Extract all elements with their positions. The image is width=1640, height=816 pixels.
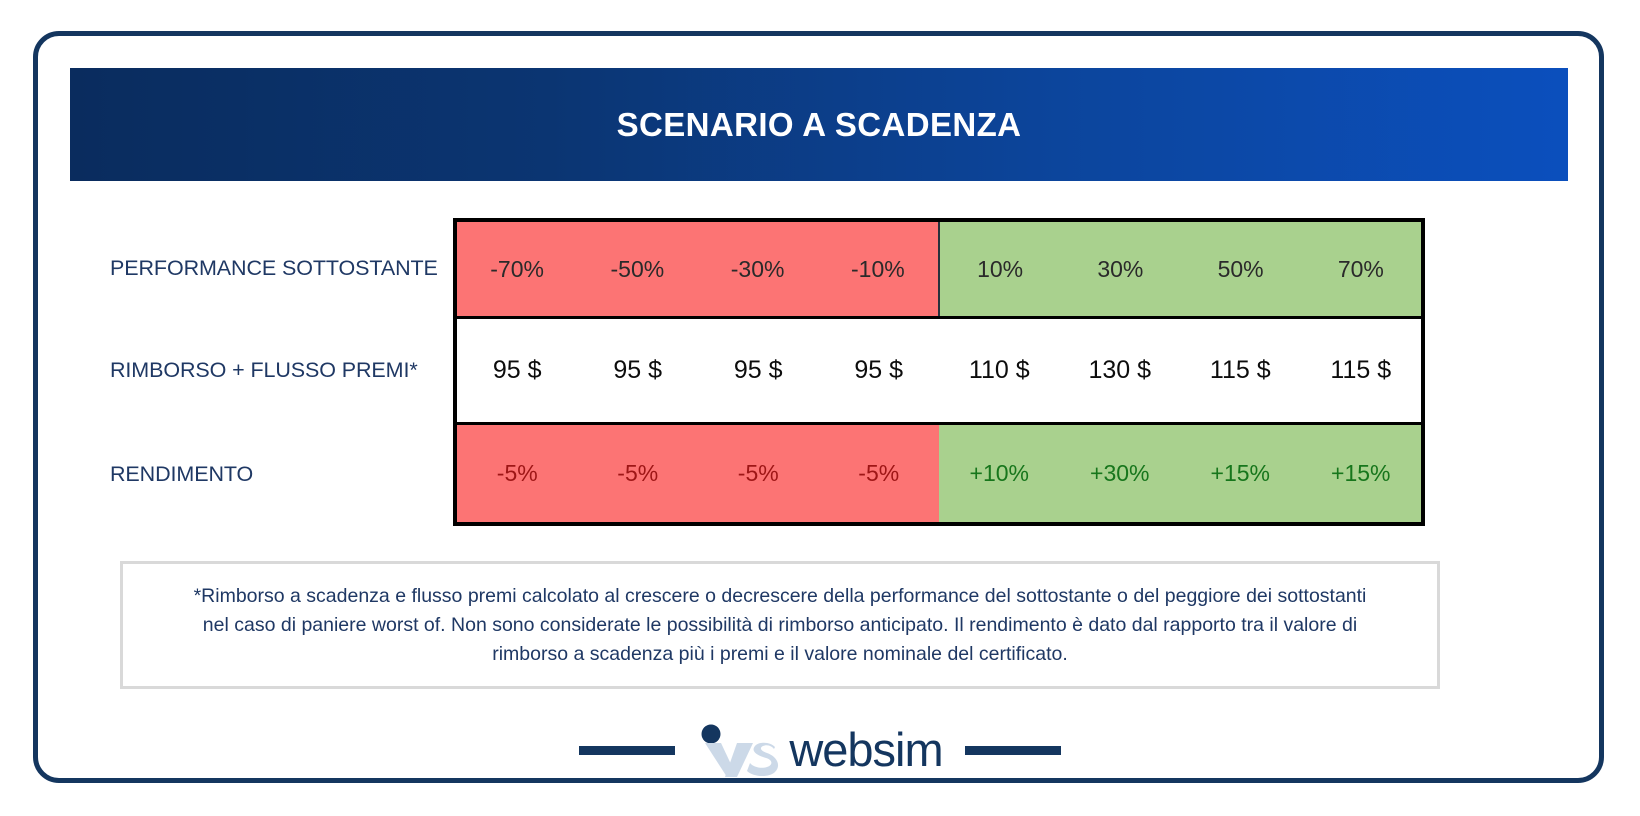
table-cell: -30%	[698, 222, 818, 316]
table-cell: 95 $	[819, 319, 940, 422]
footnote-text: *Rimborso a scadenza e flusso premi calc…	[190, 582, 1370, 669]
table-cell: 95 $	[698, 319, 819, 422]
table-cell: 95 $	[578, 319, 699, 422]
logo-rule-right	[965, 746, 1061, 755]
table-cell: -5%	[457, 425, 578, 522]
table-row: RIMBORSO + FLUSSO PREMI* 95 $ 95 $ 95 $ …	[110, 319, 1430, 422]
table-cell: -70%	[457, 222, 577, 316]
logo-rule-left	[579, 746, 675, 755]
table-cell: 115 $	[1301, 319, 1422, 422]
table-cell: 50%	[1181, 222, 1301, 316]
row-label-rendimento: RENDIMENTO	[110, 462, 453, 487]
table-cell: 130 $	[1060, 319, 1181, 422]
table-cell: 10%	[938, 222, 1060, 316]
table-cell: +30%	[1060, 425, 1181, 522]
table-cell: 30%	[1060, 222, 1180, 316]
table-cell: -50%	[577, 222, 697, 316]
footer-logo: websim	[0, 715, 1640, 785]
brand-name: websim	[789, 726, 942, 773]
table-row: RENDIMENTO -5% -5% -5% -5% +10% +30% +15…	[110, 422, 1430, 526]
table-cell: 95 $	[457, 319, 578, 422]
table-cell: 70%	[1301, 222, 1421, 316]
table-cell: -5%	[578, 425, 699, 522]
table-row: PERFORMANCE SOTTOSTANTE -70% -50% -30% -…	[110, 218, 1430, 319]
scenario-table: PERFORMANCE SOTTOSTANTE -70% -50% -30% -…	[110, 218, 1430, 526]
table-cell: +15%	[1180, 425, 1301, 522]
websim-mark-icon	[697, 721, 785, 779]
footnote-box: *Rimborso a scadenza e flusso premi calc…	[120, 561, 1440, 689]
table-cell: -5%	[698, 425, 819, 522]
table-cell: 115 $	[1180, 319, 1301, 422]
row-label-performance: PERFORMANCE SOTTOSTANTE	[110, 256, 453, 281]
row-cells: -70% -50% -30% -10% 10% 30% 50% 70%	[453, 218, 1425, 319]
table-cell: -10%	[818, 222, 938, 316]
table-cell: -5%	[819, 425, 940, 522]
row-label-rimborso: RIMBORSO + FLUSSO PREMI*	[110, 358, 453, 383]
page-title: SCENARIO A SCADENZA	[617, 106, 1022, 144]
table-cell: +15%	[1301, 425, 1422, 522]
infographic-page: SCENARIO A SCADENZA PERFORMANCE SOTTOSTA…	[0, 0, 1640, 816]
row-cells: -5% -5% -5% -5% +10% +30% +15% +15%	[453, 422, 1425, 526]
row-cells: 95 $ 95 $ 95 $ 95 $ 110 $ 130 $ 115 $ 11…	[453, 319, 1425, 422]
table-cell: 110 $	[939, 319, 1060, 422]
table-cell: +10%	[939, 425, 1060, 522]
title-banner: SCENARIO A SCADENZA	[70, 68, 1568, 181]
